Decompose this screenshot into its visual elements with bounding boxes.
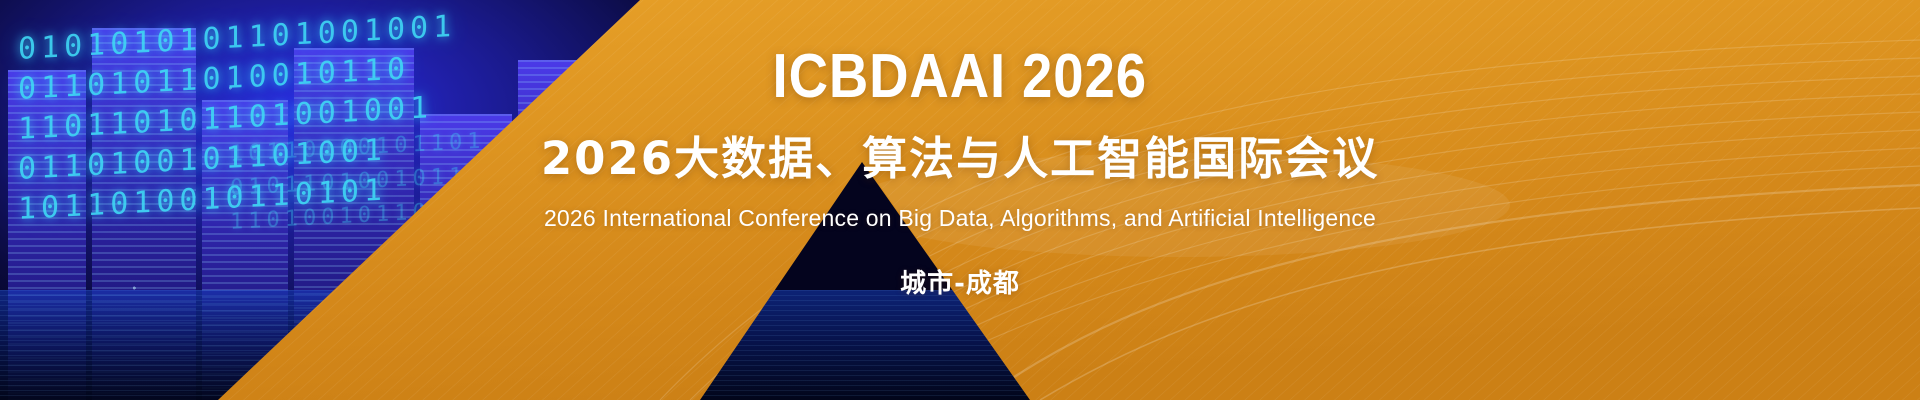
banner-text-block: ICBDAAI 2026 2026大数据、算法与人工智能国际会议 2026 In…: [0, 0, 1920, 400]
conference-chinese-title: 2026大数据、算法与人工智能国际会议: [541, 134, 1379, 184]
conference-acronym-title: ICBDAAI 2026: [773, 46, 1147, 108]
conference-city-label: 城市-成都: [900, 263, 1020, 300]
conference-banner: 0101010101101001001 01101011010010110 11…: [0, 0, 1920, 400]
conference-english-subtitle: 2026 International Conference on Big Dat…: [544, 205, 1376, 232]
